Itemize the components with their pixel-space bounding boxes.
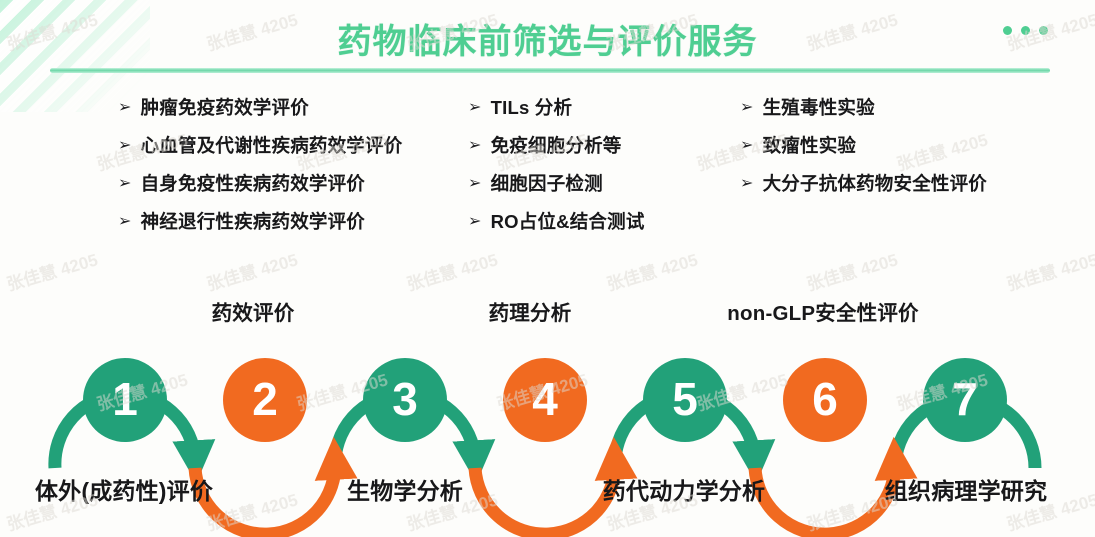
dot-icon bbox=[1021, 26, 1030, 35]
process-step-node[interactable]: 3 bbox=[363, 358, 447, 442]
list-item: ➢ 生殖毒性实验 bbox=[740, 96, 987, 134]
process-step-node[interactable]: 2 bbox=[223, 358, 307, 442]
bullet-column-pharmacology: ➢ TILs 分析 ➢ 免疫细胞分析等 ➢ 细胞因子检测 ➢ RO占位&结合测试 bbox=[468, 96, 645, 248]
stage-label-bottom: 组织病理学研究 bbox=[885, 472, 1047, 506]
bullet-column-safety: ➢ 生殖毒性实验 ➢ 致瘤性实验 ➢ 大分子抗体药物安全性评价 bbox=[740, 96, 987, 210]
list-item-label: 心血管及代谢性疾病药效学评价 bbox=[141, 134, 403, 159]
arrow-bullet-icon: ➢ bbox=[118, 135, 132, 157]
list-item: ➢ 自身免疫性疾病药效学评价 bbox=[118, 172, 402, 210]
arrow-bullet-icon: ➢ bbox=[118, 97, 132, 119]
list-item-label: 细胞因子检测 bbox=[491, 172, 603, 197]
ellipsis-dots-decor bbox=[1003, 26, 1048, 35]
title-divider bbox=[50, 68, 1050, 73]
bullet-column-efficacy: ➢ 肿瘤免疫药效学评价 ➢ 心血管及代谢性疾病药效学评价 ➢ 自身免疫性疾病药效… bbox=[118, 96, 402, 248]
process-step-node[interactable]: 4 bbox=[503, 358, 587, 442]
arrow-bullet-icon: ➢ bbox=[118, 211, 132, 233]
list-item-label: 致瘤性实验 bbox=[763, 134, 857, 159]
list-item: ➢ 肿瘤免疫药效学评价 bbox=[118, 96, 402, 134]
process-step-node[interactable]: 7 bbox=[923, 358, 1007, 442]
stage-label-top: 药理分析 bbox=[489, 296, 572, 326]
arrow-bullet-icon: ➢ bbox=[468, 97, 482, 119]
stage-label-bottom: 药代动力学分析 bbox=[603, 472, 765, 506]
stage-label-bottom: 体外(成药性)评价 bbox=[35, 472, 213, 506]
list-item: ➢ 神经退行性疾病药效学评价 bbox=[118, 210, 402, 248]
list-item-label: RO占位&结合测试 bbox=[491, 210, 645, 235]
process-step-node[interactable]: 1 bbox=[83, 358, 167, 442]
list-item-label: 自身免疫性疾病药效学评价 bbox=[141, 172, 365, 197]
list-item: ➢ 细胞因子检测 bbox=[468, 172, 645, 210]
stage-label-top: non-GLP安全性评价 bbox=[727, 296, 918, 326]
bullet-columns: ➢ 肿瘤免疫药效学评价 ➢ 心血管及代谢性疾病药效学评价 ➢ 自身免疫性疾病药效… bbox=[0, 96, 1095, 251]
stage-label-bottom: 生物学分析 bbox=[347, 472, 463, 506]
arrow-bullet-icon: ➢ bbox=[740, 173, 754, 195]
process-step-node[interactable]: 6 bbox=[783, 358, 867, 442]
list-item-label: 肿瘤免疫药效学评价 bbox=[141, 96, 309, 121]
process-flow: 药效评价 药理分析 non-GLP安全性评价 1 2 3 4 5 6 7 体外(… bbox=[0, 268, 1095, 537]
list-item: ➢ 心血管及代谢性疾病药效学评价 bbox=[118, 134, 402, 172]
process-step-node[interactable]: 5 bbox=[643, 358, 727, 442]
list-item: ➢ 免疫细胞分析等 bbox=[468, 134, 645, 172]
list-item-label: 免疫细胞分析等 bbox=[491, 134, 622, 159]
list-item-label: 大分子抗体药物安全性评价 bbox=[763, 172, 987, 197]
arrow-bullet-icon: ➢ bbox=[468, 211, 482, 233]
list-item: ➢ TILs 分析 bbox=[468, 96, 645, 134]
list-item: ➢ 致瘤性实验 bbox=[740, 134, 987, 172]
list-item-label: 神经退行性疾病药效学评价 bbox=[141, 210, 365, 235]
list-item-label: 生殖毒性实验 bbox=[763, 96, 875, 121]
list-item: ➢ RO占位&结合测试 bbox=[468, 210, 645, 248]
dot-icon bbox=[1039, 26, 1048, 35]
page-title: 药物临床前筛选与评价服务 bbox=[338, 14, 758, 63]
slide-canvas: 药物临床前筛选与评价服务 ➢ 肿瘤免疫药效学评价 ➢ 心血管及代谢性疾病药效学评… bbox=[0, 0, 1095, 537]
arrow-bullet-icon: ➢ bbox=[740, 135, 754, 157]
arrow-bullet-icon: ➢ bbox=[118, 173, 132, 195]
arrow-bullet-icon: ➢ bbox=[468, 135, 482, 157]
list-item-label: TILs 分析 bbox=[491, 96, 573, 121]
arrow-bullet-icon: ➢ bbox=[740, 97, 754, 119]
list-item: ➢ 大分子抗体药物安全性评价 bbox=[740, 172, 987, 210]
dot-icon bbox=[1003, 26, 1012, 35]
title-row: 药物临床前筛选与评价服务 bbox=[0, 14, 1095, 62]
arrow-bullet-icon: ➢ bbox=[468, 173, 482, 195]
stage-label-top: 药效评价 bbox=[212, 296, 295, 326]
